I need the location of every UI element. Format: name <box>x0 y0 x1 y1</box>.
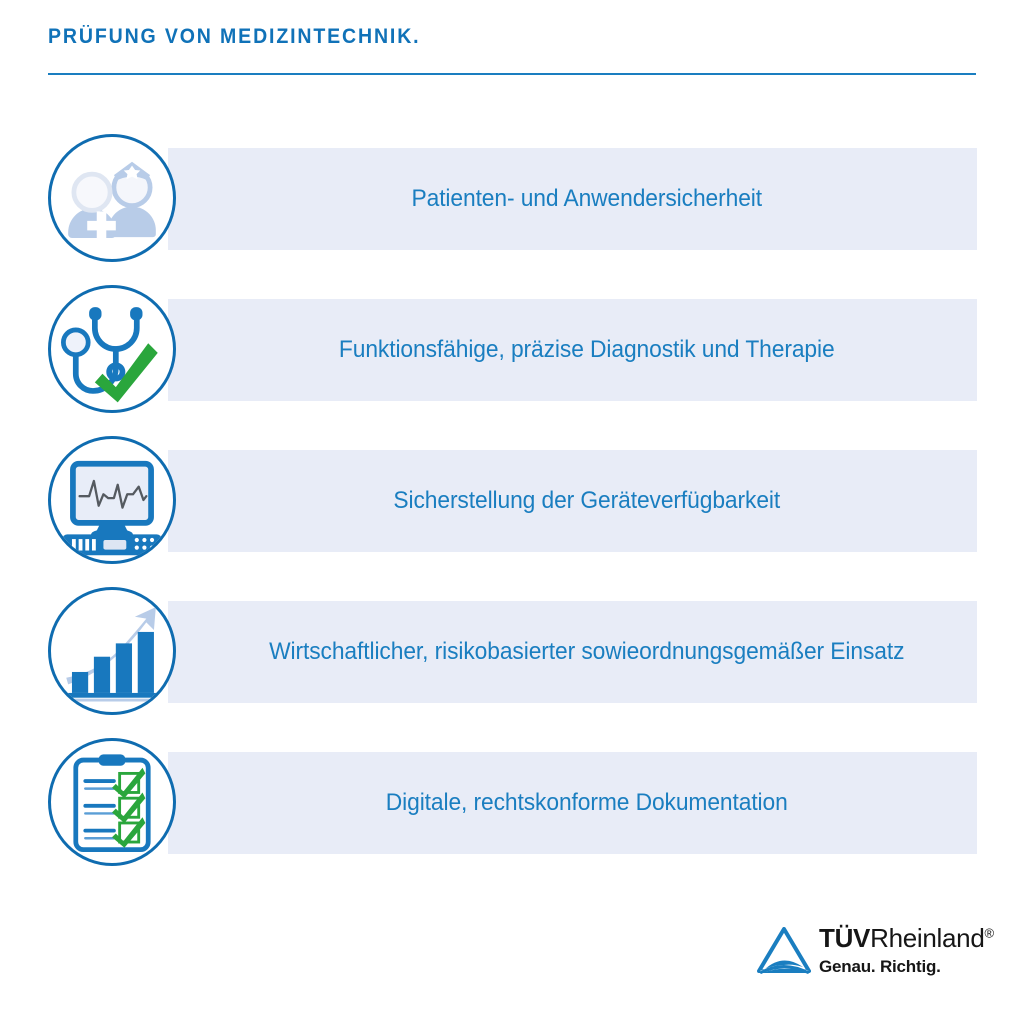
row-label-line: Funktionsfähige, präzise Diagnostik und … <box>339 334 835 366</box>
patient-monitor-ecg-icon <box>48 436 176 564</box>
row-label-line: ordnungsgemäßer Einsatz <box>639 636 904 668</box>
row-label-line: Patienten- und Anwendersicherheit <box>411 183 762 215</box>
list-item: Wirtschaftlicher, risikobasierter sowie … <box>0 601 1024 703</box>
patient-and-nurse-icon <box>48 134 176 262</box>
row-label: Wirtschaftlicher, risikobasierter sowie … <box>188 601 957 703</box>
row-label: Patienten- und Anwendersicherheit <box>188 148 957 250</box>
logo-name-tuv: TÜV <box>819 923 870 953</box>
row-band: Wirtschaftlicher, risikobasierter sowie … <box>168 601 977 703</box>
page-title: PRÜFUNG VON MEDIZINTECHNIK. <box>48 26 911 47</box>
list-item: Digitale, rechtskonforme Dokumentation <box>0 752 1024 854</box>
row-label: Sicherstellung der Geräteverfügbarkeit <box>188 450 957 552</box>
title-divider <box>48 73 976 75</box>
list-item: Sicherstellung der Geräteverfügbarkeit <box>0 450 1024 552</box>
row-label-line: Digitale, rechtskonforme Dokumentation <box>386 787 788 819</box>
logo-name-rheinland: Rheinland <box>870 923 984 953</box>
stethoscope-check-icon <box>48 285 176 413</box>
growth-bar-chart-icon <box>48 587 176 715</box>
list-item: Patienten- und Anwendersicherheit <box>0 148 1024 250</box>
checklist-clipboard-icon <box>48 738 176 866</box>
row-label: Funktionsfähige, präzise Diagnostik und … <box>188 299 957 401</box>
logo-name: TÜVRheinland® <box>819 925 994 952</box>
row-band: Patienten- und Anwendersicherheit <box>168 148 977 250</box>
row-band: Digitale, rechtskonforme Dokumentation <box>168 752 977 854</box>
row-label-line: Wirtschaftlicher, risikobasierter sowie <box>269 636 639 668</box>
list-item: Funktionsfähige, präzise Diagnostik und … <box>0 299 1024 401</box>
row-label: Digitale, rechtskonforme Dokumentation <box>188 752 957 854</box>
row-label-line: Sicherstellung der Geräteverfügbarkeit <box>393 485 780 517</box>
tuv-rheinland-logo: TÜVRheinland® Genau. Richtig. <box>757 925 997 987</box>
registered-trademark-icon: ® <box>985 925 994 940</box>
row-band: Funktionsfähige, präzise Diagnostik und … <box>168 299 977 401</box>
row-band: Sicherstellung der Geräteverfügbarkeit <box>168 450 977 552</box>
tuv-rheinland-triangle-icon <box>757 927 811 975</box>
feature-list: Patienten- und Anwendersicherheit <box>0 148 1024 854</box>
header: PRÜFUNG VON MEDIZINTECHNIK. <box>48 26 976 47</box>
logo-claim: Genau. Richtig. <box>819 957 994 977</box>
logo-wordmark: TÜVRheinland® Genau. Richtig. <box>819 925 994 977</box>
